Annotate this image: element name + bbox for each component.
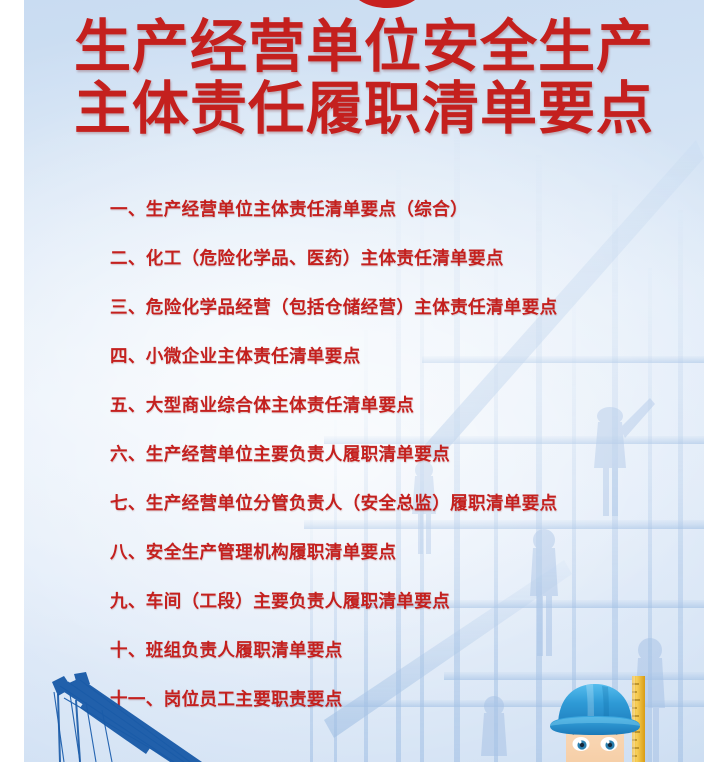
list-item: 十、班组负责人履职清单要点 <box>24 627 704 676</box>
page-title-line-1: 生产经营单位安全生产 <box>24 16 704 78</box>
red-emblem-icon <box>349 0 425 8</box>
list-item: 四、小微企业主体责任清单要点 <box>24 333 704 382</box>
list-item: 七、生产经营单位分管负责人（安全总监）履职清单要点 <box>24 480 704 529</box>
checklist: 一、生产经营单位主体责任清单要点（综合） 二、化工（危险化学品、医药）主体责任清… <box>24 186 704 725</box>
list-item: 八、安全生产管理机构履职清单要点 <box>24 529 704 578</box>
list-item: 五、大型商业综合体主体责任清单要点 <box>24 382 704 431</box>
safety-responsibility-poster: 生产经营单位安全生产 主体责任履职清单要点 一、生产经营单位主体责任清单要点（综… <box>0 0 728 762</box>
list-item: 二、化工（危险化学品、医药）主体责任清单要点 <box>24 235 704 284</box>
list-item: 一、生产经营单位主体责任清单要点（综合） <box>24 186 704 235</box>
page-title-line-2: 主体责任履职清单要点 <box>24 78 704 140</box>
page-title: 生产经营单位安全生产 主体责任履职清单要点 <box>24 16 704 140</box>
poster-panel: 生产经营单位安全生产 主体责任履职清单要点 一、生产经营单位主体责任清单要点（综… <box>24 0 704 762</box>
list-item: 九、车间（工段）主要负责人履职清单要点 <box>24 578 704 627</box>
list-item: 三、危险化学品经营（包括仓储经营）主体责任清单要点 <box>24 284 704 333</box>
list-item: 十一、岗位员工主要职责要点 <box>24 676 704 725</box>
list-item: 六、生产经营单位主要负责人履职清单要点 <box>24 431 704 480</box>
